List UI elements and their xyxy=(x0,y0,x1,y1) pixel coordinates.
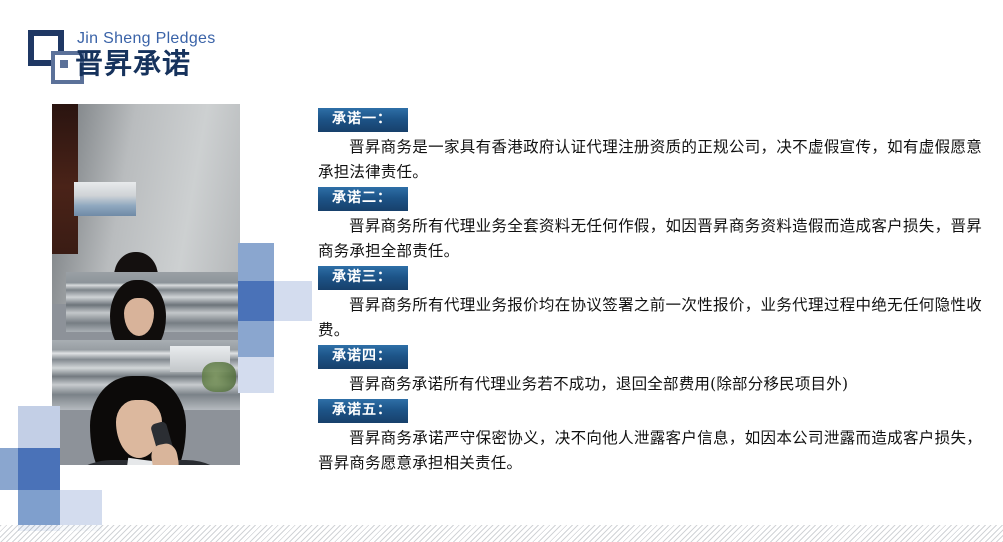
decor-square xyxy=(0,448,18,490)
decor-square xyxy=(238,357,274,393)
decor-square xyxy=(274,281,312,321)
decor-square xyxy=(238,281,274,321)
logo-title-en: Jin Sheng Pledges xyxy=(77,30,216,48)
pledge-badge: 承诺一： xyxy=(318,108,408,132)
decor-square xyxy=(18,448,60,490)
pledge-section: 承诺五： 晋昇商务承诺严守保密协义，决不向他人泄露客户信息，如因本公司泄露而造成… xyxy=(318,399,982,476)
decor-square xyxy=(238,321,274,357)
decor-mosaic-lower-left xyxy=(0,406,130,531)
pledge-text: 晋昇商务承诺严守保密协义，决不向他人泄露客户信息，如因本公司泄露而造成客户损失，… xyxy=(318,426,982,476)
photo-curtain xyxy=(52,104,78,254)
decor-mosaic-right xyxy=(232,243,316,393)
pledge-badge: 承诺二： xyxy=(318,187,408,211)
pledge-badge: 承诺五： xyxy=(318,399,408,423)
pledge-text: 晋昇商务承诺所有代理业务若不成功，退回全部费用(除部分移民项目外) xyxy=(318,372,982,397)
decor-square xyxy=(238,243,274,281)
pledge-section: 承诺四： 晋昇商务承诺所有代理业务若不成功，退回全部费用(除部分移民项目外) xyxy=(318,345,982,397)
photo-shelf xyxy=(74,182,136,216)
pledges-list: 承诺一： 晋昇商务是一家具有香港政府认证代理注册资质的正规公司，决不虚假宣传，如… xyxy=(318,108,982,478)
pledge-badge: 承诺四： xyxy=(318,345,408,369)
pledge-badge: 承诺三： xyxy=(318,266,408,290)
pledge-section: 承诺一： 晋昇商务是一家具有香港政府认证代理注册资质的正规公司，决不虚假宣传，如… xyxy=(318,108,982,185)
slide-header: Jin Sheng Pledges 晋昇承诺 xyxy=(0,0,1003,100)
pledge-text: 晋昇商务所有代理业务报价均在协议签署之前一次性报价，业务代理过程中绝无任何隐性收… xyxy=(318,293,982,343)
pledge-text: 晋昇商务所有代理业务全套资料无任何作假，如因晋昇商务资料造假而造成客户损失，晋昇… xyxy=(318,214,982,264)
pledge-text: 晋昇商务是一家具有香港政府认证代理注册资质的正规公司，决不虚假宣传，如有虚假愿意… xyxy=(318,135,982,185)
square-dot-icon xyxy=(60,60,68,68)
photo-plant xyxy=(202,362,236,392)
decor-square xyxy=(18,406,60,448)
bottom-hatched-strip xyxy=(0,525,1003,542)
pledge-section: 承诺三： 晋昇商务所有代理业务报价均在协议签署之前一次性报价，业务代理过程中绝无… xyxy=(318,266,982,343)
logo-title-cn: 晋昇承诺 xyxy=(75,49,191,80)
pledge-section: 承诺二： 晋昇商务所有代理业务全套资料无任何作假，如因晋昇商务资料造假而造成客户… xyxy=(318,187,982,264)
